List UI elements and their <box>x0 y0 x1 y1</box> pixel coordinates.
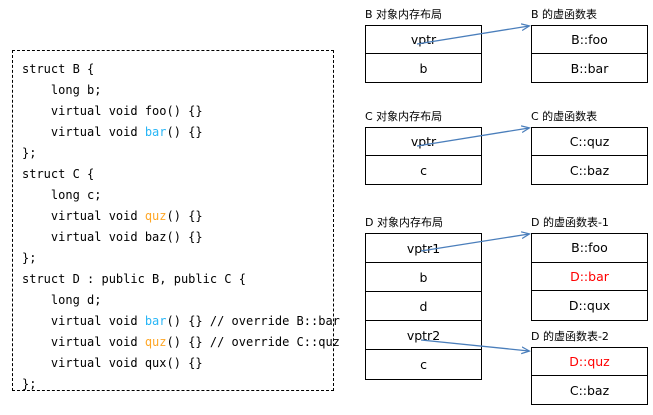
code-token: () {} <box>167 209 203 223</box>
b-object-layout-box: vptrb <box>365 25 482 83</box>
code-line: }; <box>22 374 340 395</box>
code-token: bar <box>145 314 167 328</box>
code-line: }; <box>22 143 340 164</box>
cell-label: vptr <box>411 134 436 149</box>
cell-label: c <box>420 163 427 178</box>
caption-c-vtable: C 的虚函数表 <box>531 110 597 123</box>
code-line: virtual void baz() {} <box>22 227 340 248</box>
c-object-row: vptr <box>366 128 481 156</box>
cell-label: B::foo <box>571 240 608 255</box>
cell-label: D::bar <box>570 269 609 284</box>
caption-b-object-layout: B 对象内存布局 <box>365 8 442 21</box>
cell-label: vptr1 <box>407 241 440 256</box>
c-object-row: c <box>366 156 481 184</box>
cell-label: C::baz <box>570 163 609 178</box>
code-token: virtual void qux() {} <box>22 356 203 370</box>
code-token: long c; <box>22 188 101 202</box>
d-vtable-2-row: D::quz <box>532 348 647 376</box>
d-vtable-2-row: C::baz <box>532 376 647 404</box>
d-vtable-1-row: D::qux <box>532 291 647 320</box>
cell-label: b <box>420 270 428 285</box>
code-token: virtual void baz() {} <box>22 230 203 244</box>
c-vtable-box: C::quzC::baz <box>531 127 648 185</box>
code-token: () {} // override B::bar <box>167 314 340 328</box>
caption-d-object-layout: D 对象内存布局 <box>365 216 443 229</box>
code-token: struct B { <box>22 62 94 76</box>
code-token: bar <box>145 125 167 139</box>
code-line: struct C { <box>22 164 340 185</box>
code-token: quz <box>145 209 167 223</box>
source-code-listing: struct B { long b; virtual void foo() {}… <box>22 59 340 395</box>
b-vtable-box: B::fooB::bar <box>531 25 648 83</box>
code-line: virtual void qux() {} <box>22 353 340 374</box>
code-token: () {} // override C::quz <box>167 335 340 349</box>
code-token: long b; <box>22 83 101 97</box>
code-token: struct D : public B, public C { <box>22 272 246 286</box>
code-line: long b; <box>22 80 340 101</box>
d-vtable-1-box: B::fooD::barD::qux <box>531 233 648 321</box>
code-token: struct C { <box>22 167 94 181</box>
code-line: virtual void quz() {} <box>22 206 340 227</box>
code-line: struct D : public B, public C { <box>22 269 340 290</box>
code-token: () {} <box>167 125 203 139</box>
cell-label: C::quz <box>570 134 610 149</box>
code-token: }; <box>22 146 36 160</box>
cell-label: d <box>420 299 428 314</box>
d-object-row: b <box>366 263 481 292</box>
code-token: }; <box>22 377 36 391</box>
cell-label: B::foo <box>571 32 608 47</box>
code-token: long d; <box>22 293 101 307</box>
cell-label: C::baz <box>570 383 609 398</box>
code-token: virtual void <box>22 335 145 349</box>
code-token: virtual void <box>22 125 145 139</box>
d-object-layout-box: vptr1bdvptr2c <box>365 233 482 380</box>
cell-label: D::qux <box>569 298 610 313</box>
code-line: virtual void bar() {} // override B::bar <box>22 311 340 332</box>
b-object-row: vptr <box>366 26 481 54</box>
caption-b-vtable: B 的虚函数表 <box>531 8 597 21</box>
code-token: virtual void foo() {} <box>22 104 203 118</box>
code-line: struct B { <box>22 59 340 80</box>
d-vtable-1-row: D::bar <box>532 263 647 292</box>
code-token: virtual void <box>22 314 145 328</box>
code-token: virtual void <box>22 209 145 223</box>
cell-label: b <box>420 61 428 76</box>
code-line: virtual void foo() {} <box>22 101 340 122</box>
code-line: }; <box>22 248 340 269</box>
c-vtable-row: C::baz <box>532 156 647 184</box>
code-token: }; <box>22 251 36 265</box>
d-object-row: vptr1 <box>366 234 481 263</box>
d-vtable-1-row: B::foo <box>532 234 647 263</box>
b-object-row: b <box>366 54 481 82</box>
cell-label: vptr <box>411 32 436 47</box>
caption-d-vtable-1: D 的虚函数表-1 <box>531 216 609 229</box>
cell-label: D::quz <box>569 354 609 369</box>
code-line: virtual void bar() {} <box>22 122 340 143</box>
d-vtable-2-box: D::quzC::baz <box>531 347 648 405</box>
code-panel: struct B { long b; virtual void foo() {}… <box>12 50 334 391</box>
cell-label: vptr2 <box>407 328 440 343</box>
c-vtable-row: C::quz <box>532 128 647 156</box>
b-vtable-row: B::bar <box>532 54 647 82</box>
cell-label: c <box>420 357 427 372</box>
d-object-row: c <box>366 350 481 379</box>
c-object-layout-box: vptrc <box>365 127 482 185</box>
caption-c-object-layout: C 对象内存布局 <box>365 110 442 123</box>
vtable-layout-diagram: struct B { long b; virtual void foo() {}… <box>0 0 653 415</box>
d-object-row: vptr2 <box>366 321 481 350</box>
code-token: quz <box>145 335 167 349</box>
code-line: long c; <box>22 185 340 206</box>
code-line: long d; <box>22 290 340 311</box>
d-object-row: d <box>366 292 481 321</box>
caption-d-vtable-2: D 的虚函数表-2 <box>531 330 609 343</box>
b-vtable-row: B::foo <box>532 26 647 54</box>
cell-label: B::bar <box>571 61 609 76</box>
code-line: virtual void quz() {} // override C::quz <box>22 332 340 353</box>
